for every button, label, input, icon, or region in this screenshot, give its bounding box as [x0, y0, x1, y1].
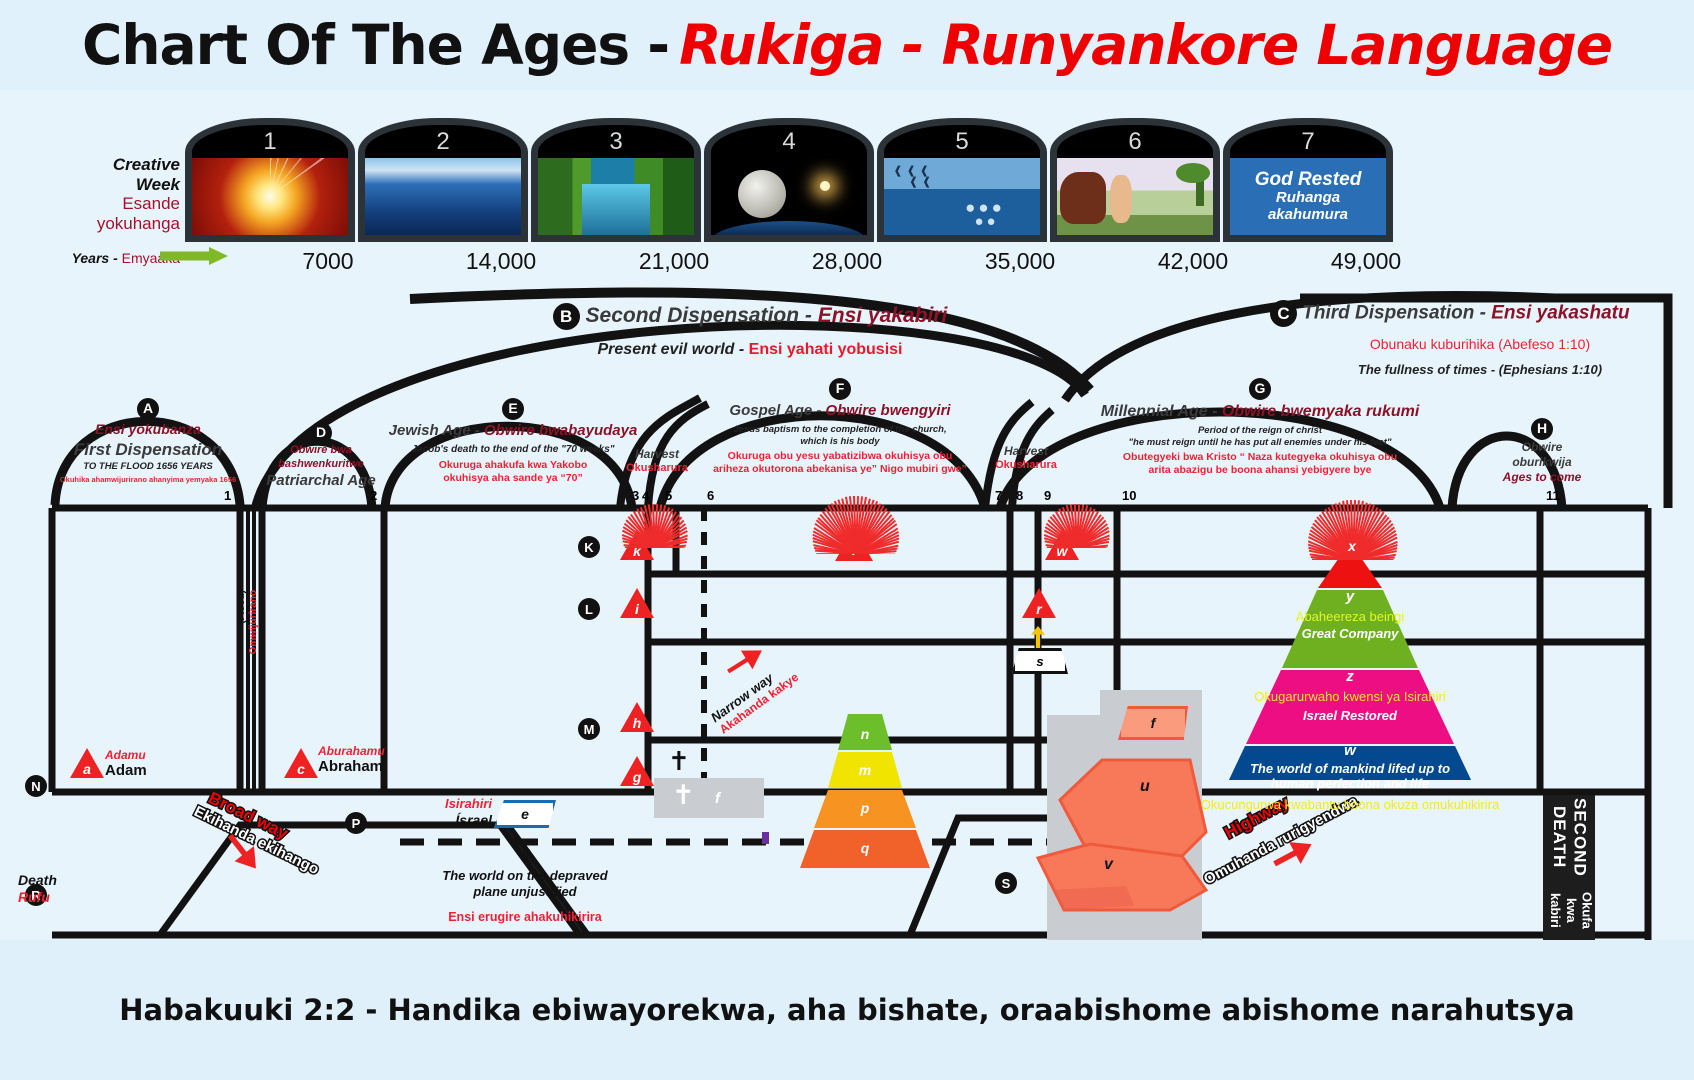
age-g-header: G Millennial Age - Obwire bwemyaka rukum…	[1050, 378, 1470, 477]
trapezoid-s-label: s	[1036, 654, 1043, 669]
day-number-2: 2	[358, 118, 528, 158]
god-rested-panel: God Rested Ruhanga akahumura	[1223, 158, 1393, 242]
dispensation-b-sub-en: Present evil world -	[598, 341, 749, 358]
triangle-marker-i: i	[620, 588, 654, 618]
day-number-5: 5	[877, 118, 1047, 158]
depraved-box-key: d	[390, 846, 660, 866]
god-rested-en: God Rested	[1255, 169, 1362, 190]
trapezoid-f-orange-label: f	[1151, 715, 1156, 731]
light-burst-icon	[185, 158, 355, 242]
age-f-title-en: Gospel Age -	[729, 402, 825, 419]
column-number-1: 1	[224, 488, 231, 503]
age-f-sub-en-2: which is his body	[695, 436, 985, 448]
polygon-u-label: u	[1140, 778, 1150, 796]
day-number-4: 4	[704, 118, 874, 158]
age-g-sub-loc-2: arita abazigu be boona ahansi yebigyere …	[1050, 464, 1470, 477]
dispensation-c-title-en: Third Dispensation -	[1302, 303, 1491, 324]
years-label-en: Years -	[72, 250, 122, 266]
abraham-label-en: Abraham	[318, 758, 385, 775]
age-f-title-loc: Obwire bwengyiri	[826, 402, 951, 419]
dispensation-c-title-loc: Ensi yakashatu	[1491, 303, 1629, 324]
abraham-label-loc: Aburahamu	[318, 744, 385, 758]
mill-band-w-en-2: human perfection and life	[1160, 776, 1540, 791]
creative-week-en-1: Creative	[60, 155, 180, 175]
badge-f: F	[829, 378, 851, 400]
age-g-title-en: Millennial Age -	[1101, 403, 1222, 420]
death-label: Death Rufu	[18, 872, 80, 906]
row-marker-n: N	[25, 775, 47, 797]
age-e-title-loc: Obwire bwabayudaya	[484, 422, 637, 439]
triangle-marker-g: g	[620, 756, 654, 786]
age-e-sub-loc-2: okuhisya aha sande ya “70”	[388, 472, 638, 485]
age-d-header: D Obwire bwa bashwenkuritwe Patriarchal …	[266, 422, 376, 490]
page-title: Chart Of The Ages - Rukiga - Runyankore …	[0, 0, 1694, 90]
depraved-box-text: d The world on the depraved plane unjust…	[390, 846, 660, 926]
age-e-header: E Jewish Age - Obwire bwabayudaya Jacob'…	[388, 398, 638, 486]
ocean-sky-icon	[358, 158, 528, 242]
row-marker-l: L	[578, 598, 600, 620]
row-marker-m: M	[578, 718, 600, 740]
god-rested-loc-2: akahumura	[1268, 207, 1348, 224]
year-tick-3: 21,000	[589, 248, 759, 275]
harvest-2-en: Harvest	[978, 444, 1074, 459]
day-panel-3: 3	[531, 118, 701, 242]
age-g-sub-loc-1: Obutegyeki bwa Kristo “ Naza kutegyeka o…	[1050, 451, 1470, 464]
israel-label-loc: Isirahiri	[400, 796, 492, 812]
trapezoid-e-label: e	[521, 806, 529, 822]
gray-f-label: f	[715, 790, 720, 807]
mill-band-z-loc: Okugarurwaho kwensi ya Isirahiri	[1190, 689, 1510, 704]
triangle-letter-h: h	[620, 715, 654, 731]
death-label-loc: Rufu	[18, 889, 80, 906]
god-rested-loc-1: Ruhanga	[1276, 190, 1340, 207]
age-f-sub-en-1: Jesus baptism to the completion of the c…	[695, 424, 985, 436]
badge-a: A	[137, 398, 159, 420]
age-a-sub-en: TO THE FLOOD 1656 YEARS	[58, 461, 238, 473]
triangle-letter-g: g	[620, 769, 654, 785]
adam-animals-icon	[1050, 158, 1220, 242]
footer-verse: Habakuuki 2:2 - Handika ebiwayorekwa, ah…	[0, 940, 1694, 1080]
age-e-sub-en: Jacob's death to the end of the "70 week…	[388, 444, 638, 457]
polygon-v-label: v	[1104, 856, 1113, 874]
year-tick-2: 14,000	[416, 248, 586, 275]
mill-band-y-en: Great Company	[1230, 626, 1470, 641]
age-f-sub-loc-2: ariheza okutorona abekanisa ye” Nigo mub…	[695, 463, 985, 476]
second-death-column: SECOND DEATH Okufa kwa kabiri	[1543, 795, 1595, 940]
moon-sun-icon	[704, 158, 874, 242]
adam-label: Adamu Adam	[105, 748, 147, 779]
creative-week-label: Creative Week Esande yokuhanga	[60, 155, 180, 233]
adam-label-en: Adam	[105, 762, 147, 779]
badge-g: G	[1249, 378, 1271, 400]
flood-label-en: (Flood)	[236, 590, 247, 624]
mill-band-x-label: x	[1315, 538, 1389, 554]
harvest-label-2: Harvest Okusharura	[978, 444, 1074, 473]
age-h-title-en: Ages to come	[1487, 470, 1597, 485]
abraham-label: Aburahamu Abraham	[318, 744, 385, 775]
mill-band-w-loc: Okucungurwa kwabantu boona okuza omukuhi…	[1160, 797, 1540, 812]
age-g-sub-en-2: "he must reign until he has put all enem…	[1050, 437, 1470, 449]
age-h-loc-2: oburikwija	[1487, 455, 1597, 470]
birds-fish-icon: ❰❰❰ ❰❰ ●●● ●●	[877, 158, 1047, 242]
dispensation-c-sub-loc: Obunaku kuburihika (Abefeso 1:10)	[1270, 336, 1690, 354]
depraved-box-en-2: plane unjustified	[390, 884, 660, 901]
creative-week-loc-1: Esande	[60, 194, 180, 214]
badge-d: D	[310, 422, 332, 444]
triangle-letter-a: a	[70, 761, 104, 777]
mill-band-y-label: y	[1230, 588, 1470, 605]
years-label: Years - Emyaaka	[40, 250, 180, 266]
day-number-7: 7	[1223, 118, 1393, 158]
dispensation-b-header: B Second Dispensation - Ensi yakabiri Pr…	[400, 303, 1100, 360]
age-e-sub-loc-1: Okuruga ahakufa kwa Yakobo	[388, 459, 638, 472]
year-tick-1: 7000	[243, 248, 413, 275]
triangle-marker-c: c	[284, 748, 318, 778]
triangle-letter-r: r	[1022, 601, 1056, 617]
column-number-11: 11	[1546, 488, 1560, 503]
cross-icon-gray: ✝	[672, 782, 695, 809]
second-death-loc: Okufa kwa kabiri	[1548, 880, 1595, 940]
triangle-marker-r: r	[1022, 588, 1056, 618]
creative-week-loc-2: yokuhanga	[60, 214, 180, 234]
side-marker-s: S	[995, 872, 1017, 894]
mill-band-z-label: z	[1190, 668, 1510, 685]
pyramid-band-m-label: m	[740, 762, 990, 778]
mill-band-w: w The world of mankind lifed up to human…	[1160, 742, 1540, 812]
day-panel-7: 7 God Rested Ruhanga akahumura	[1223, 118, 1393, 242]
age-f-sub-loc-1: Okuruga obu yesu yabatizibwa okuhisya ob…	[695, 450, 985, 463]
day-number-6: 6	[1050, 118, 1220, 158]
age-f-header: F Gospel Age - Obwire bwengyiri Jesus ba…	[695, 378, 985, 476]
column-number-6: 6	[707, 488, 714, 503]
trapezoid-f-orange: f	[1118, 706, 1188, 740]
mill-band-z-en: Israel Restored	[1190, 708, 1510, 723]
badge-b: B	[553, 303, 580, 330]
age-d-loc-1: Obwire bwa	[266, 444, 376, 458]
starburst-k-icon	[606, 500, 702, 548]
triangle-letter-i: i	[620, 601, 654, 617]
age-d-title-en: Patriarchal Age	[266, 472, 376, 491]
age-d-loc-2: bashwenkuritwe	[266, 458, 376, 472]
day-panel-5: 5 ❰❰❰ ❰❰ ●●● ●●	[877, 118, 1047, 242]
starburst-w-icon	[1028, 500, 1124, 548]
trapezoid-s: s	[1012, 648, 1068, 674]
death-label-en: Death	[18, 872, 80, 889]
age-h-loc-1: Obwire	[1487, 440, 1597, 455]
column-number-7: 7	[995, 488, 1002, 503]
second-death-en: SECOND DEATH	[1549, 795, 1590, 880]
column-number-8: 8	[1016, 488, 1023, 503]
row-marker-k: K	[578, 536, 600, 558]
cross-icon-black: ✝	[668, 748, 690, 774]
pyramid-band-q-label: q	[740, 840, 990, 856]
depraved-box-loc: Ensi erugire ahakuhikirira	[390, 909, 660, 925]
chart-of-the-ages-page: Chart Of The Ages - Rukiga - Runyankore …	[0, 0, 1694, 1080]
side-marker-p: P	[345, 812, 367, 834]
harvest-label-1: Harvest Okusharura	[612, 447, 702, 476]
israel-label: Isirahiri Ísrael	[400, 796, 492, 828]
adam-label-loc: Adamu	[105, 748, 147, 762]
dispensation-b-sub-loc: Ensi yahati yobusisi	[749, 341, 903, 358]
day-number-3: 3	[531, 118, 701, 158]
year-ticks: 7000 14,000 21,000 28,000 35,000 42,000 …	[243, 248, 1451, 275]
day-panel-4: 4	[704, 118, 874, 242]
badge-e: E	[502, 398, 524, 420]
dispensation-c-header: C Third Dispensation - Ensi yakashatu Ob…	[1270, 300, 1690, 378]
harvest-1-en: Harvest	[612, 447, 702, 462]
year-tick-4: 28,000	[762, 248, 932, 275]
flood-label-loc: Omwijurirano	[248, 590, 259, 654]
triangle-marker-h: h	[620, 702, 654, 732]
pyramid-band-n-label: n	[740, 726, 990, 742]
age-a-sub-loc: Okuhika ahamwijurirano ahanyima yemyaka …	[58, 475, 238, 484]
column-number-10: 10	[1122, 488, 1136, 503]
year-tick-6: 42,000	[1108, 248, 1278, 275]
mill-band-y-loc: Abaheereza beingi	[1230, 609, 1470, 624]
age-a-loc-top: Ensi yokubanza	[58, 421, 238, 439]
badge-h: H	[1531, 418, 1553, 440]
age-h-header: H Obwire oburikwija Ages to come	[1487, 418, 1597, 485]
age-a-title-en: First Dispensation	[58, 439, 238, 460]
dispensation-b-title-en: Second Dispensation -	[586, 304, 818, 327]
age-a-header: A Ensi yokubanza First Dispensation TO T…	[58, 398, 238, 484]
footer-verse-text: Habakuuki 2:2 - Handika ebiwayorekwa, ah…	[119, 993, 1574, 1027]
mill-band-z: z Okugarurwaho kwensi ya Isirahiri Israe…	[1190, 668, 1510, 723]
starburst-l-icon	[790, 492, 920, 554]
age-e-title-en: Jewish Age -	[389, 422, 484, 439]
age-g-sub-en-1: Period of the reign of christ	[1050, 425, 1470, 437]
column-number-2: 2	[370, 488, 377, 503]
age-g-title-loc: Obwire bwemyaka rukumi	[1222, 403, 1419, 420]
page-title-red: Rukiga - Runyankore Language	[679, 13, 1612, 77]
pyramid-band-p-label: p	[740, 800, 990, 816]
mill-band-y: y Abaheereza beingi Great Company	[1230, 588, 1470, 641]
mill-band-w-en-1: The world of mankind lifed up to	[1160, 761, 1540, 776]
day-number-1: 1	[185, 118, 355, 158]
creative-week-en-2: Week	[60, 175, 180, 195]
mill-band-w-label: w	[1160, 742, 1540, 759]
harvest-1-loc: Okusharura	[612, 462, 702, 476]
tropical-land-icon	[531, 158, 701, 242]
harvest-2-loc: Okusharura	[978, 459, 1074, 473]
day-panel-2: 2	[358, 118, 528, 242]
badge-c: C	[1270, 300, 1297, 327]
year-tick-7: 49,000	[1281, 248, 1451, 275]
page-title-black: Chart Of The Ages -	[82, 13, 669, 77]
dispensation-b-title-loc: Ensi yakabiri	[818, 304, 948, 327]
year-tick-5: 35,000	[935, 248, 1105, 275]
trapezoid-e: e	[494, 800, 556, 828]
day-panel-1: 1	[185, 118, 355, 242]
triangle-letter-c: c	[284, 761, 318, 777]
depraved-box-en-1: The world on the depraved	[390, 868, 660, 885]
day-panel-6: 6	[1050, 118, 1220, 242]
dispensation-c-sub-en: The fullness of times - (Ephesians 1:10)	[1270, 362, 1690, 378]
creative-week-days: 1 2 3 4 5 ❰❰❰	[185, 118, 1393, 242]
israel-label-en: Ísrael	[400, 812, 492, 829]
triangle-marker-a: a	[70, 748, 104, 778]
gospel-pyramid-labels: n m p q	[740, 714, 990, 869]
